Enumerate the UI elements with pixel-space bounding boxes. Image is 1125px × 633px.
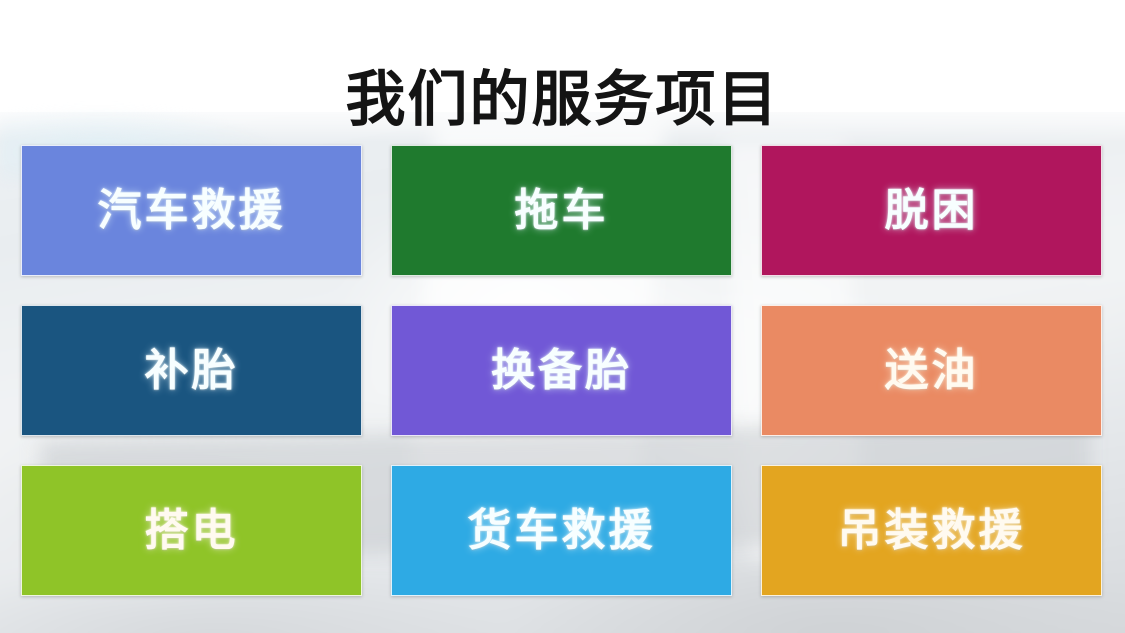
page-title: 我们的服务项目 xyxy=(0,64,1125,136)
service-list-page: 我们的服务项目 汽车救援拖车脱困补胎换备胎送油搭电货车救援吊装救援 xyxy=(0,0,1125,633)
service-tile-label: 汽车救援 xyxy=(98,189,286,233)
service-tile[interactable]: 脱困 xyxy=(761,145,1102,276)
service-tile-label: 吊装救援 xyxy=(838,509,1026,553)
service-tile-label: 脱困 xyxy=(885,189,979,233)
service-tile[interactable]: 货车救援 xyxy=(391,465,732,596)
service-tile-label: 补胎 xyxy=(145,349,239,393)
service-tile-grid: 汽车救援拖车脱困补胎换备胎送油搭电货车救援吊装救援 xyxy=(21,145,1104,597)
service-tile[interactable]: 搭电 xyxy=(21,465,362,596)
service-tile-label: 送油 xyxy=(885,349,979,393)
service-tile[interactable]: 拖车 xyxy=(391,145,732,276)
service-tile-label: 换备胎 xyxy=(491,349,632,393)
service-tile-label: 拖车 xyxy=(515,189,609,233)
service-tile[interactable]: 换备胎 xyxy=(391,305,732,436)
service-tile-label: 货车救援 xyxy=(468,509,656,553)
service-tile[interactable]: 汽车救援 xyxy=(21,145,362,276)
service-tile-label: 搭电 xyxy=(145,509,239,553)
service-tile[interactable]: 补胎 xyxy=(21,305,362,436)
service-tile[interactable]: 吊装救援 xyxy=(761,465,1102,596)
service-tile[interactable]: 送油 xyxy=(761,305,1102,436)
